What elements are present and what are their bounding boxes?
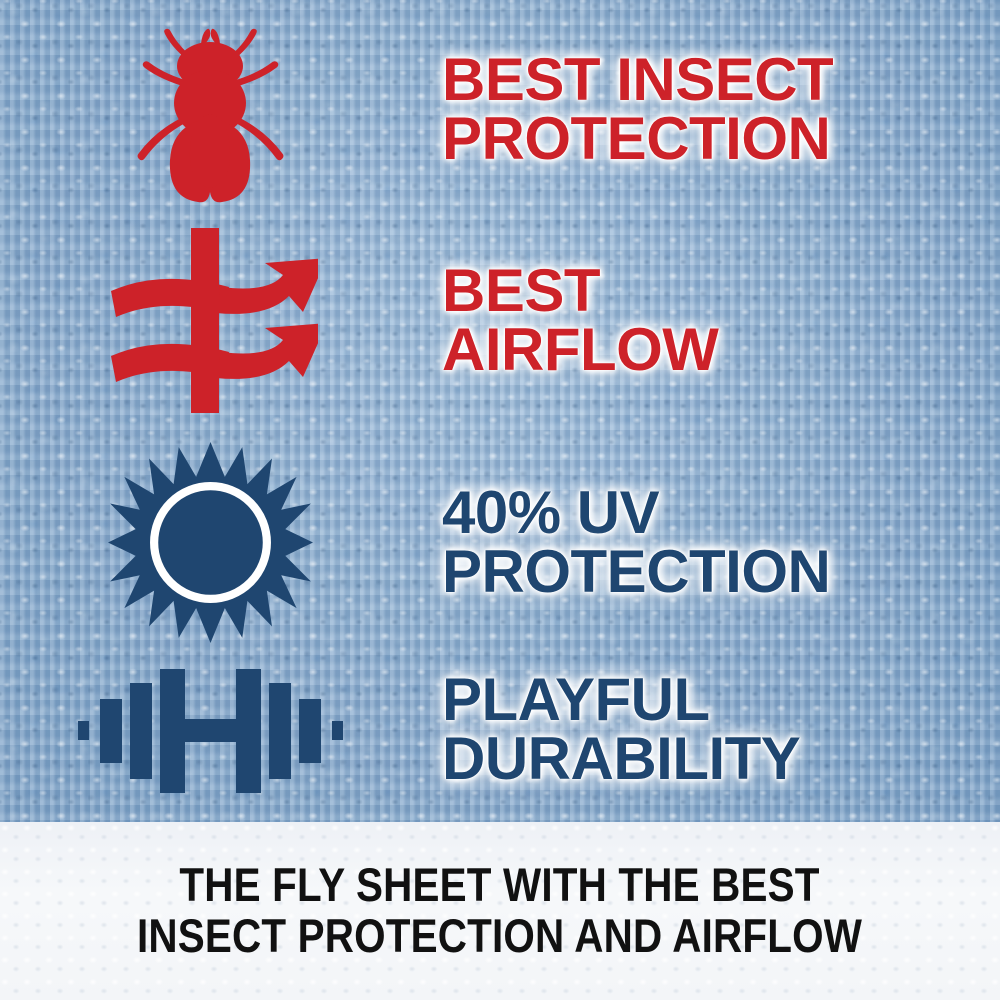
caption-line-2: INSECT PROTECTION AND AIRFLOW: [137, 911, 862, 962]
caption-line-1: THE FLY SHEET WITH THE BEST: [137, 860, 862, 911]
feature-title-line-2: PROTECTION: [442, 543, 1000, 602]
feature-row-airflow: BEST AIRFLOW: [0, 228, 1000, 413]
dumbbell-icon: [78, 663, 343, 798]
feature-title-line-2: DURABILITY: [442, 730, 1000, 789]
feature-row-uv-protection: 40% UV PROTECTION: [0, 440, 1000, 645]
feature-title-durability: PLAYFUL DURABILITY: [442, 671, 1000, 789]
feature-row-durability: PLAYFUL DURABILITY: [0, 655, 1000, 805]
feature-title-line-2: AIRFLOW: [442, 321, 1000, 380]
feature-title-airflow: BEST AIRFLOW: [442, 262, 1000, 380]
feature-text-cell: BEST INSECT PROTECTION: [420, 51, 1000, 169]
feature-row-insect-protection: BEST INSECT PROTECTION: [0, 10, 1000, 210]
feature-text-cell: PLAYFUL DURABILITY: [420, 671, 1000, 789]
feature-text-cell: BEST AIRFLOW: [420, 262, 1000, 380]
feature-title-line-1: PLAYFUL: [442, 671, 1000, 730]
feature-title-insect-protection: BEST INSECT PROTECTION: [442, 51, 1000, 169]
feature-icon-cell: [0, 663, 420, 798]
feature-text-cell: 40% UV PROTECTION: [420, 484, 1000, 602]
product-feature-infographic: BEST INSECT PROTECTION: [0, 0, 1000, 1000]
feature-title-line-1: 40% UV: [442, 484, 1000, 543]
feature-icon-cell: [0, 440, 420, 645]
feature-title-uv-protection: 40% UV PROTECTION: [442, 484, 1000, 602]
fly-icon: [125, 18, 295, 203]
feature-icon-cell: [0, 18, 420, 203]
feature-icon-cell: [0, 228, 420, 413]
caption-headline: THE FLY SHEET WITH THE BEST INSECT PROTE…: [137, 860, 862, 962]
feature-title-line-1: BEST INSECT: [442, 51, 1000, 110]
sun-uv-icon: [108, 440, 313, 645]
caption-bar: THE FLY SHEET WITH THE BEST INSECT PROTE…: [0, 822, 1000, 1000]
airflow-arrows-icon: [103, 228, 318, 413]
feature-title-line-1: BEST: [442, 262, 1000, 321]
feature-title-line-2: PROTECTION: [442, 110, 1000, 169]
